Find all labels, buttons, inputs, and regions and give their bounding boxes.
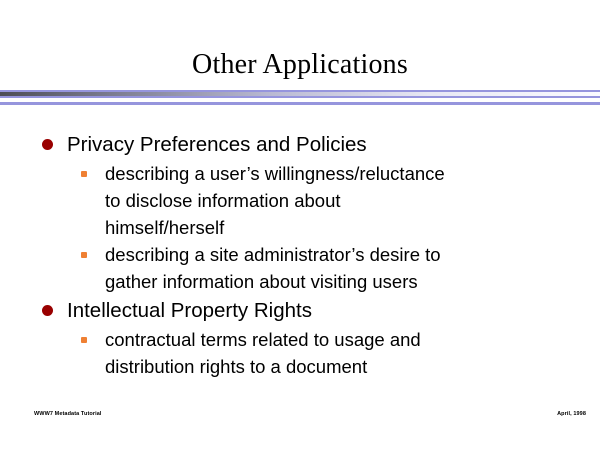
slide-body: Privacy Preferences and Policies describ… (36, 130, 576, 381)
bullet-continuation-line: to disclose information about (36, 188, 576, 214)
list-item: describing a user’s willingness/reluctan… (36, 161, 576, 187)
list-item: Intellectual Property Rights (36, 296, 576, 325)
list-item: Privacy Preferences and Policies (36, 130, 576, 159)
filled-circle-bullet-icon (42, 305, 53, 316)
divider-rule-middle (0, 96, 600, 98)
bullet-text: describing a site administrator’s desire… (105, 244, 441, 265)
page-title: Other Applications (0, 48, 600, 82)
divider-rule-bottom (0, 102, 600, 105)
bullet-text: Privacy Preferences and Policies (67, 133, 367, 156)
small-square-bullet-icon (81, 171, 87, 177)
slide-title-area: Other Applications (0, 48, 600, 82)
title-divider (0, 90, 600, 108)
list-item: contractual terms related to usage and (36, 327, 576, 353)
bullet-continuation-line: distribution rights to a document (36, 354, 576, 380)
presentation-slide: Other Applications Privacy Preferences a… (0, 0, 600, 450)
bullet-text: Intellectual Property Rights (67, 299, 312, 322)
bullet-text: contractual terms related to usage and (105, 329, 421, 350)
footer-left-text: WWW7 Metadata Tutorial (34, 411, 102, 417)
bullet-text: describing a user’s willingness/reluctan… (105, 163, 445, 184)
footer-right-date: April, 1998 (557, 411, 586, 417)
list-item: describing a site administrator’s desire… (36, 242, 576, 268)
slide-footer: WWW7 Metadata Tutorial April, 1998 (34, 411, 586, 423)
filled-circle-bullet-icon (42, 139, 53, 150)
bullet-continuation-line: himself/herself (36, 215, 576, 241)
small-square-bullet-icon (81, 252, 87, 258)
small-square-bullet-icon (81, 337, 87, 343)
bullet-continuation-line: gather information about visiting users (36, 269, 576, 295)
